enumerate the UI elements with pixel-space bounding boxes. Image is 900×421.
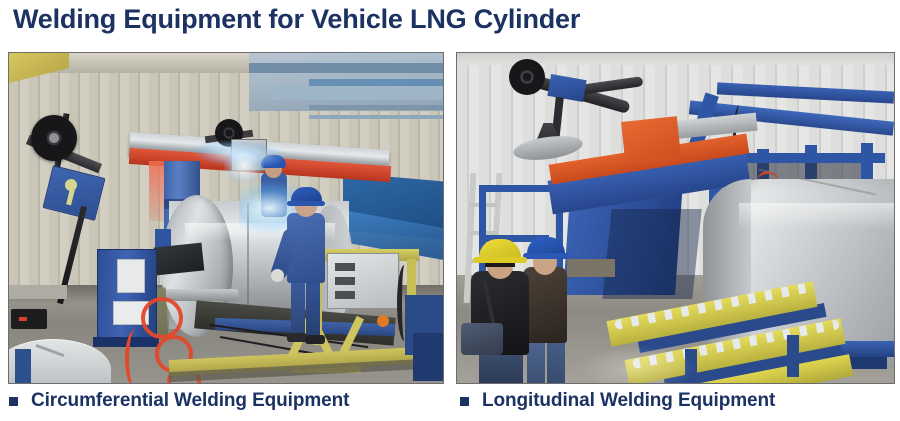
welding-wire-spool [509, 59, 545, 95]
floor-equipment-box [11, 309, 47, 329]
page-title: Welding Equipment for Vehicle LNG Cylind… [13, 4, 580, 35]
seamer-body-shadow [602, 209, 701, 299]
photo-circumferential-welding [8, 52, 444, 384]
worker-b-jacket [523, 267, 567, 343]
caption-label: Circumferential Welding Equipment [31, 390, 349, 412]
worker-glove [271, 269, 284, 282]
worker-leg-left [291, 275, 305, 337]
caption-label: Longitudinal Welding Equipment [482, 390, 775, 412]
window-sill [9, 285, 67, 299]
slide-root: Welding Equipment for Vehicle LNG Cylind… [0, 0, 900, 421]
overhead-pipe-secondary [309, 115, 443, 119]
floor-dust-haze [577, 345, 697, 384]
worker-a-hard-hat-brim [473, 257, 527, 263]
worker-a-shoulder-bag [461, 323, 503, 355]
air-duct [271, 86, 443, 100]
conveyor-leg-right [787, 335, 799, 377]
control-switch-top [335, 263, 355, 271]
worker-leg-right [306, 277, 320, 337]
orange-knob [377, 315, 389, 327]
control-switch-bottom [335, 291, 355, 299]
worker-hard-hat-brim [287, 201, 325, 206]
ceiling-beam-secondary [309, 79, 443, 86]
red-hose-coil [141, 297, 183, 339]
seamer-orange-housing [621, 116, 681, 162]
arc-glow-core [224, 149, 264, 183]
worker-b-hard-hat-brim [523, 253, 569, 259]
cabinet-control-panel [117, 259, 145, 293]
photo-longitudinal-welding [456, 52, 895, 384]
square-bullet-icon [460, 397, 469, 406]
worker-b-leg-right [547, 337, 565, 384]
worker-shoe-right [305, 335, 325, 344]
indicator-led [19, 317, 27, 321]
overhead-pipe [309, 105, 443, 110]
background-parts-stack [567, 259, 615, 277]
cylinder-highlight [739, 203, 895, 229]
wire-spool-hub [49, 133, 59, 143]
red-hose-run [125, 329, 147, 384]
caption-longitudinal: Longitudinal Welding Equipment [460, 390, 775, 412]
worker-floor-shadow [467, 383, 587, 384]
square-bullet-icon [9, 397, 18, 406]
worker-shoe-left [287, 333, 307, 342]
blue-floor-post [15, 349, 31, 384]
ceiling-beam [249, 63, 443, 73]
control-switch-mid [335, 277, 355, 285]
worker-b-leg-left [527, 337, 545, 384]
blue-floor-stand-lower [413, 333, 443, 381]
caption-circumferential: Circumferential Welding Equipment [9, 390, 349, 412]
tailstock-scoop [154, 243, 205, 276]
